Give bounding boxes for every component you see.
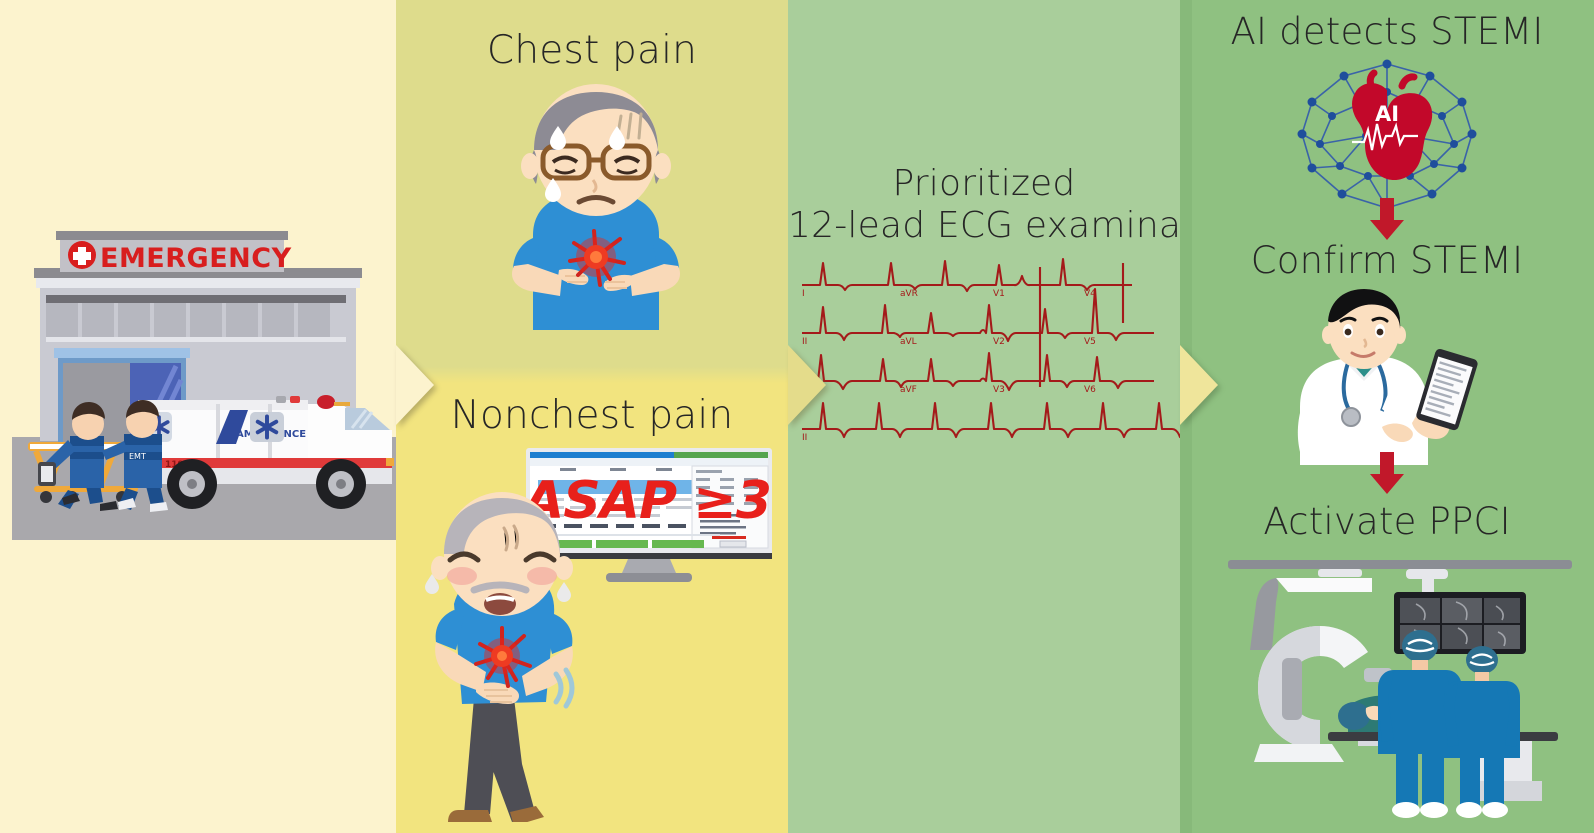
panel-ecg-examination: Prioritized 12-lead ECG examination I aV… [788, 0, 1180, 833]
wheel-front [316, 459, 366, 509]
wheel-rear [167, 459, 217, 509]
lead-label: V3 [993, 385, 1005, 395]
c-arm-base [1254, 744, 1344, 762]
lead-label: V2 [993, 337, 1005, 347]
overhead-light-panel [1276, 578, 1372, 592]
smartphone-icon[interactable] [1415, 348, 1479, 432]
caption-ai-detects-stemi: AI detects STEMI [1180, 10, 1594, 53]
chest-pain-patient-illustration [481, 80, 711, 330]
heart-icon [1352, 83, 1432, 180]
down-arrow-icon [1368, 452, 1406, 494]
rhythm-strip-label: II [802, 433, 807, 443]
shoe [1392, 802, 1420, 818]
ecg-lead-labels: I aVR V1 V4 II aVL V2 V5 III aVF V3 V6 I… [802, 289, 1096, 443]
nonchest-pain-patient-illustration [406, 492, 626, 822]
shoe [1420, 802, 1448, 818]
caption-nonchest-pain: Nonchest pain [396, 393, 788, 438]
emergency-department-illustration: EMERGENCY [0, 0, 396, 833]
shoe-left [448, 810, 492, 822]
lead-label: V6 [1084, 385, 1096, 395]
patient-cap [1338, 702, 1370, 730]
panel-emergency-arrival: EMERGENCY [0, 0, 396, 833]
patient-trousers-right [488, 698, 536, 822]
detector-head [1282, 658, 1302, 720]
light-support-arm [1250, 578, 1278, 650]
shoe [1482, 802, 1508, 818]
sign-board-top [56, 231, 288, 240]
caption-activate-ppci: Activate PPCI [1180, 500, 1594, 543]
caption-confirm-stemi: Confirm STEMI [1180, 239, 1594, 282]
caption-chest-pain: Chest pain [396, 28, 788, 73]
ai-heart-label: AI [1375, 102, 1399, 126]
confirm-button[interactable] [720, 541, 746, 547]
lead-label: aVF [900, 385, 917, 395]
workflow-figure: EMERGENCY [0, 0, 1594, 833]
ceiling-rail [1228, 560, 1572, 569]
caption-ecg-line-2: 12-lead ECG examination [788, 205, 1180, 246]
ai-brain-network-graphic: AI [1282, 58, 1492, 213]
caption-ecg-line-1: Prioritized [788, 163, 1180, 204]
ecg-strip-12-lead: I aVR V1 V4 II aVL V2 V5 III aVF V3 V6 I… [800, 255, 1180, 455]
window-band-top [46, 295, 346, 303]
lead-label: I [802, 289, 805, 299]
beacon-light [317, 395, 335, 409]
cath-lab-illustration [1208, 548, 1594, 828]
panel-ai-detection-treatment: AI detects STEMI [1180, 0, 1594, 833]
emergency-sign-text: EMERGENCY [100, 243, 292, 274]
lead-label: V5 [1084, 337, 1096, 347]
shoe [1456, 802, 1482, 818]
lead-label: V4 [1084, 289, 1096, 299]
down-arrow-icon [1368, 198, 1406, 240]
physician-illustration [1278, 285, 1493, 465]
surgical-cap [1466, 646, 1498, 674]
emt-badge-text: EMT [129, 452, 146, 461]
lead-label: V1 [993, 289, 1005, 299]
surgical-cap [1402, 630, 1438, 662]
lead-label: aVL [900, 337, 917, 347]
entrance-canopy [54, 348, 190, 358]
panel-patient-presentation: Chest pain [396, 0, 788, 833]
lead-label: aVR [900, 289, 918, 299]
